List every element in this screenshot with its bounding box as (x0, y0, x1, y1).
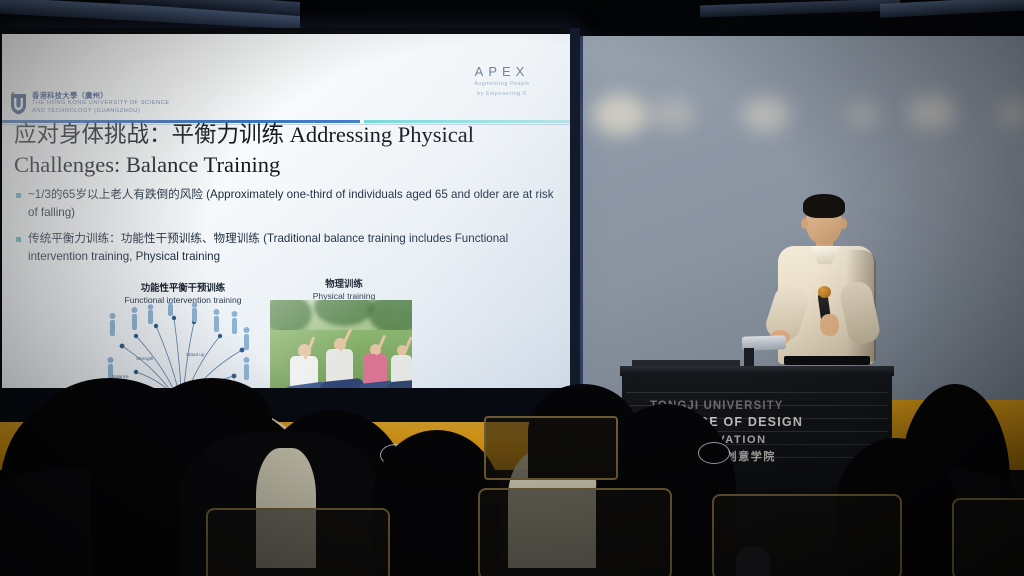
bullet-marker-icon (16, 237, 21, 242)
auditorium-chair (478, 488, 672, 576)
hkust-name-en-2: AND TECHNOLOGY (GUANGZHOU) (32, 108, 170, 115)
floor-object (736, 546, 770, 576)
microphone-stand (744, 348, 754, 368)
eyeglasses (698, 442, 730, 464)
auditorium-chair (206, 508, 390, 576)
figure-caption-cn: 功能性平衡干预训练 (98, 282, 268, 295)
figure-caption-right: 物理训练 Physical training (284, 278, 404, 302)
apex-wordmark: APEX (447, 64, 557, 79)
projection-screen: 香港科技大學（廣州） THE HONG KONG UNIVERSITY OF S… (0, 28, 578, 422)
bullet-item: ~1/3的65岁以上老人有跌倒的风险 (Approximately one-th… (16, 186, 561, 221)
apex-logo: APEX Augmenting People by Empowering X (447, 64, 557, 99)
wall-light-reflection (846, 100, 880, 128)
speaker-ear (840, 218, 847, 229)
slide-bullet-list: ~1/3的65岁以上老人有跌倒的风险 (Approximately one-th… (16, 186, 561, 274)
screen-frame-right (570, 28, 580, 424)
shield-icon (10, 92, 27, 115)
figure-caption-cn: 物理训练 (284, 278, 404, 291)
ceiling-dark-panel (300, 0, 720, 30)
hkust-name-en-1: THE HONG KONG UNIVERSITY OF SCIENCE (32, 100, 170, 107)
wall-light-reflection (592, 94, 648, 136)
auditorium-chair (484, 416, 618, 480)
speaker-ear (801, 218, 808, 229)
lecture-hall-photo: 香港科技大學（廣州） THE HONG KONG UNIVERSITY OF S… (0, 0, 1024, 576)
slide-title: 应对身体挑战：平衡力训练 Addressing Physical Challen… (14, 120, 514, 180)
wall-light-reflection (996, 98, 1024, 128)
hkust-logo: 香港科技大學（廣州） THE HONG KONG UNIVERSITY OF S… (10, 92, 170, 115)
wall-light-reflection (650, 98, 696, 130)
wall-light-reflection (908, 94, 956, 130)
presentation-slide: 香港科技大學（廣州） THE HONG KONG UNIVERSITY OF S… (2, 34, 576, 418)
speaker-hair (803, 194, 845, 218)
microphone-head (818, 286, 831, 298)
hkust-name-cn: 香港科技大學（廣州） (32, 92, 170, 100)
diagram-label-standup: Stand up (186, 352, 204, 357)
speaker-belt (784, 356, 870, 365)
diagram-label-strength: Strength (136, 356, 153, 361)
apex-tagline-line1: Augmenting People (447, 81, 557, 89)
auditorium-chair (952, 498, 1024, 576)
speaker-hand-holding-mic (820, 314, 839, 336)
bullet-item: 传统平衡力训练：功能性干预训练、物理训练 (Traditional balanc… (16, 230, 561, 265)
bullet-text: 传统平衡力训练：功能性干预训练、物理训练 (Traditional balanc… (28, 230, 561, 265)
speaker-person (770, 190, 900, 372)
apex-tagline-line2: by Empowering X (447, 91, 557, 99)
bullet-text: ~1/3的65岁以上老人有跌倒的风险 (Approximately one-th… (28, 186, 561, 221)
bullet-marker-icon (16, 193, 21, 198)
wall-light-reflection (742, 96, 790, 132)
